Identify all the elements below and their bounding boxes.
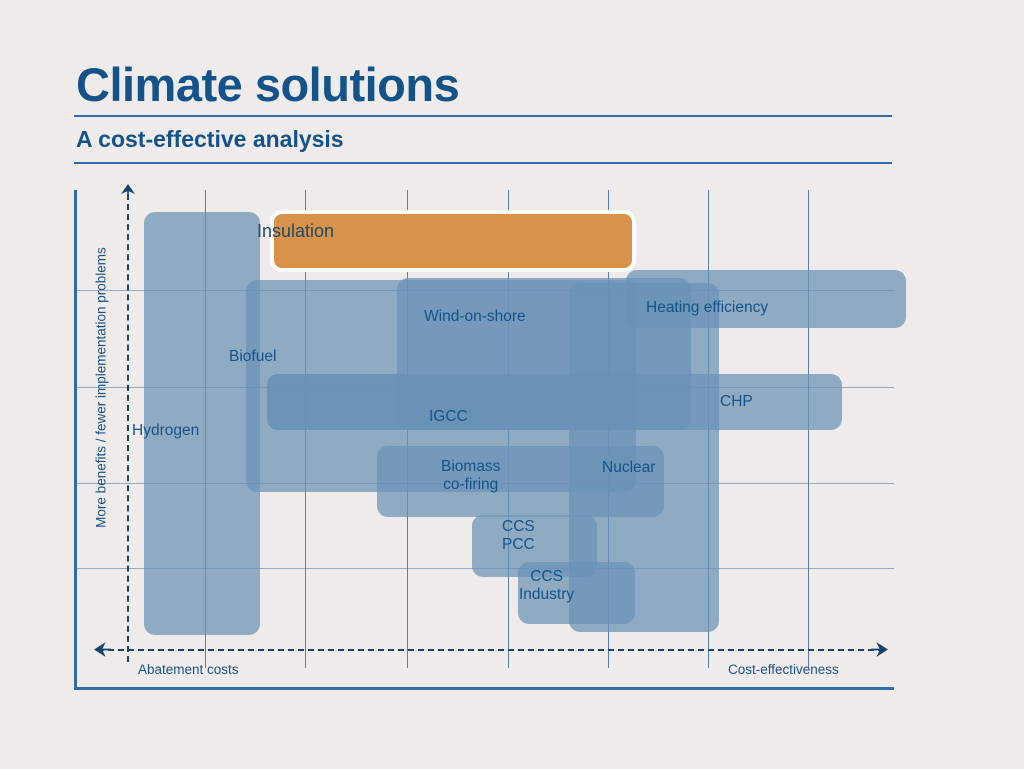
plot-area: HydrogenInsulationBiofuelWind-on-shoreHe… (74, 190, 894, 690)
y-axis-line (127, 194, 131, 662)
page-title: Climate solutions (74, 60, 892, 115)
arrow-left-icon (94, 641, 111, 658)
arrow-right-icon (871, 641, 888, 658)
solution-box-insulation[interactable] (270, 210, 636, 272)
page-subtitle: A cost-effective analysis (74, 117, 892, 161)
y-axis-label: More benefits / fewer implementation pro… (94, 193, 109, 583)
header: Climate solutions A cost-effective analy… (74, 60, 892, 164)
arrow-up-icon (120, 184, 136, 200)
solution-box-ccs-industry[interactable] (518, 562, 635, 624)
subtitle-divider (74, 162, 892, 164)
solution-box-hydrogen[interactable] (144, 212, 260, 635)
chart-container: HydrogenInsulationBiofuelWind-on-shoreHe… (74, 190, 894, 690)
x-axis-label-left: Abatement costs (138, 662, 239, 677)
x-axis-line (98, 649, 884, 651)
solution-box-chp[interactable] (267, 374, 842, 430)
x-axis-label-right: Cost-effectiveness (728, 662, 839, 677)
